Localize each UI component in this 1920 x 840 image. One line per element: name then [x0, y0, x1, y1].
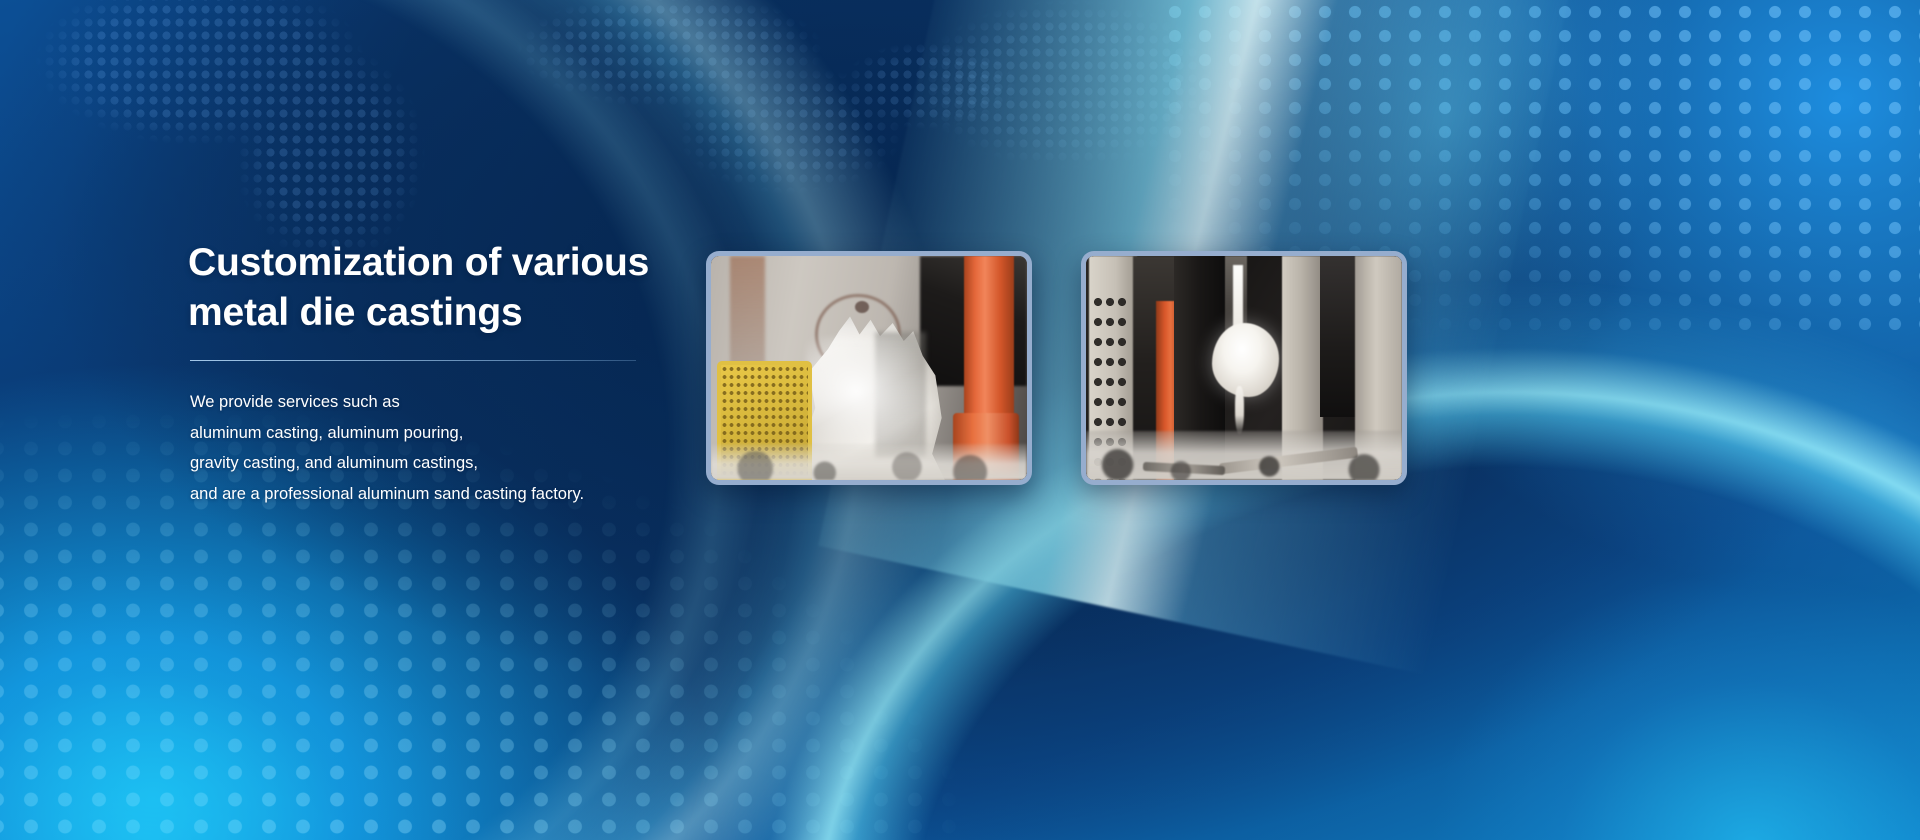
description-block: We provide services such as aluminum cas… [190, 387, 658, 509]
title-divider [190, 360, 636, 361]
molten-metal-pouring-photo[interactable] [1081, 251, 1407, 485]
description-line-3: gravity casting, and aluminum castings, [190, 448, 658, 479]
page-title: Customization of various metal die casti… [188, 238, 658, 338]
molten-metal-pouring-photo-image [1086, 256, 1402, 480]
floor-scrap [1086, 440, 1402, 480]
headline-line-1: Customization of various [188, 241, 649, 284]
aluminum-casting-photo[interactable] [706, 251, 1032, 485]
headline-line-2: metal die castings [188, 291, 523, 334]
description-line-1: We provide services such as [190, 387, 658, 418]
wall-ring-bolt [855, 301, 869, 313]
casting-glow [806, 337, 932, 458]
molten-drip [1235, 386, 1244, 435]
dark-column-right [1320, 256, 1358, 417]
molten-splash [1212, 323, 1278, 397]
description-line-2: aluminum casting, aluminum pouring, [190, 418, 658, 449]
aluminum-casting-photo-image [711, 256, 1027, 480]
description-line-4: and are a professional aluminum sand cas… [190, 479, 658, 510]
floor-debris [711, 451, 1027, 480]
copy-block: Customization of various metal die casti… [188, 238, 658, 509]
hero-banner: Customization of various metal die casti… [0, 0, 1920, 840]
